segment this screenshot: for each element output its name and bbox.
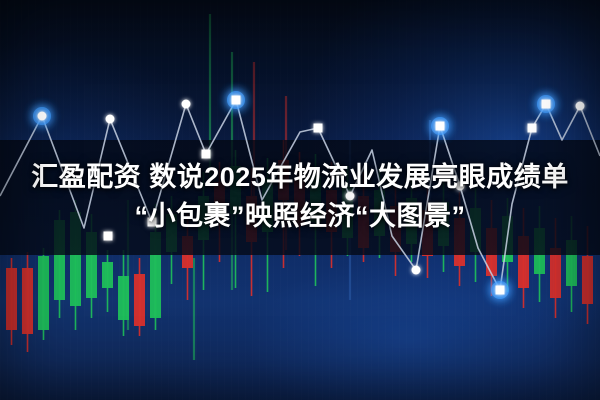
- trend-node-marker: [104, 232, 113, 241]
- trend-node-marker: [436, 122, 445, 131]
- trend-node-marker: [412, 266, 421, 275]
- trend-node-marker: [314, 124, 323, 133]
- trend-node-marker: [456, 182, 465, 191]
- trend-node-marker: [232, 96, 241, 105]
- banner-image: 汇盈配资 数说2025年物流业发展亮眼成绩单 “小包裹”映照经济“大图景”: [0, 0, 600, 400]
- trend-node-marker: [346, 192, 355, 201]
- trend-node-marker: [496, 286, 505, 295]
- trend-line-chart: [0, 0, 600, 400]
- trend-node-marker: [148, 218, 157, 227]
- trend-polyline: [0, 100, 600, 290]
- trend-node-marker: [542, 100, 551, 109]
- trend-node-marker: [528, 124, 537, 133]
- trend-node-group: [33, 91, 585, 299]
- trend-node-marker: [38, 112, 47, 121]
- trend-node-marker: [202, 150, 211, 159]
- trend-node-marker: [106, 115, 115, 124]
- trend-node-marker: [576, 102, 585, 111]
- trend-node-marker: [182, 100, 191, 109]
